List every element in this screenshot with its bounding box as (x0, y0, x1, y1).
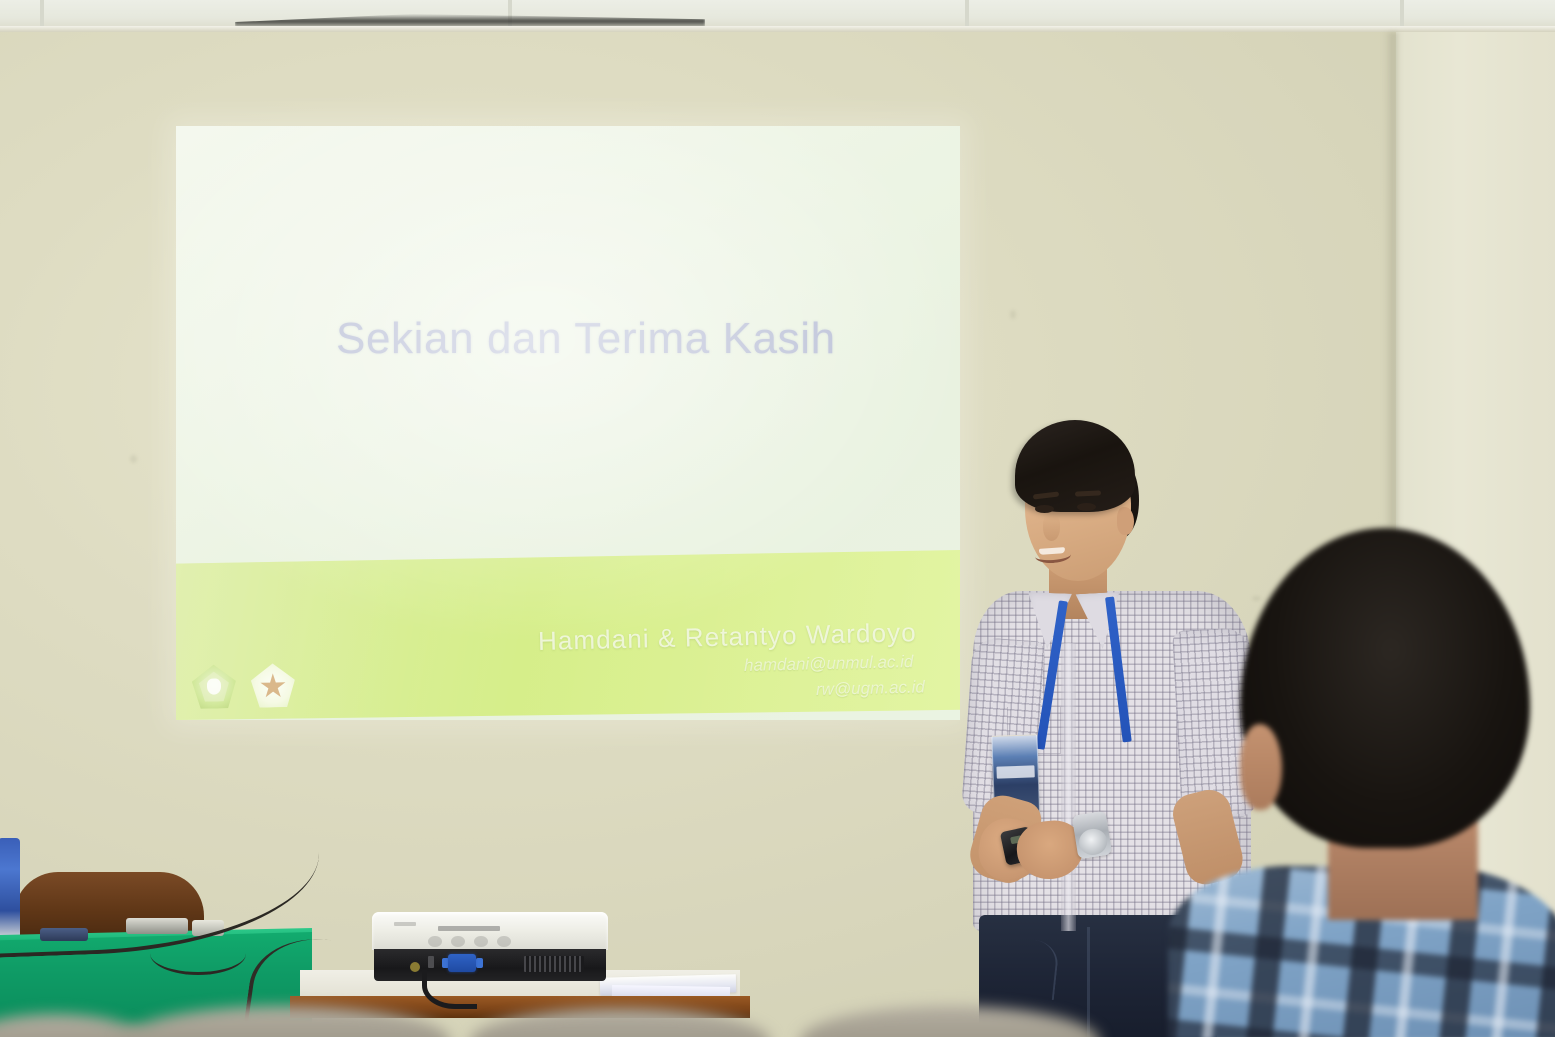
vga-screw (476, 958, 483, 968)
ceiling-grid-line (40, 0, 44, 26)
ceiling-grid-line (965, 0, 969, 26)
projector-knob (497, 936, 511, 947)
slide-title: Sekian dan Terima Kasih (336, 314, 896, 364)
slide-email-primary: hamdani@unmul.ac.id (744, 652, 914, 676)
projector-knob (428, 936, 442, 947)
projector-port (410, 962, 420, 972)
watch-face (1077, 827, 1109, 857)
wall-mark (130, 455, 137, 463)
projected-slide: Sekian dan Terima Kasih Hamdani & Retant… (176, 126, 960, 720)
slide-email-secondary: rw@ugm.ac.id (816, 677, 925, 700)
jeans-seam (1087, 927, 1090, 1037)
presenter-ear (1117, 507, 1134, 535)
presenter-eye (1035, 505, 1054, 513)
projector-vent-grille (524, 956, 584, 972)
presenter-eye (1077, 503, 1096, 511)
projector-knob (474, 936, 488, 947)
ceiling-grid-line (1400, 0, 1404, 26)
shirt-placket (1061, 643, 1076, 931)
unmul-logo-icon (192, 664, 237, 709)
projector (372, 912, 608, 984)
projector-controls (428, 936, 511, 947)
presenter-nose (1043, 515, 1060, 541)
ugm-logo-icon (251, 663, 296, 708)
projector-knob (451, 936, 465, 947)
wall-mark (1010, 310, 1016, 319)
projector-switch (428, 956, 434, 968)
badge-label-strip (996, 765, 1034, 778)
jeans-pocket (990, 936, 1060, 1000)
audience-hair (1240, 528, 1530, 848)
wristwatch (1072, 811, 1112, 860)
slide-logo-row (192, 663, 296, 709)
coiled-cable (150, 932, 246, 975)
audience-member (1178, 528, 1555, 1037)
projector-brand-mark (438, 926, 500, 931)
presentation-photo-scene: Sekian dan Terima Kasih Hamdani & Retant… (0, 0, 1555, 1037)
projector-vent (394, 922, 416, 926)
audience-ear (1240, 724, 1282, 810)
